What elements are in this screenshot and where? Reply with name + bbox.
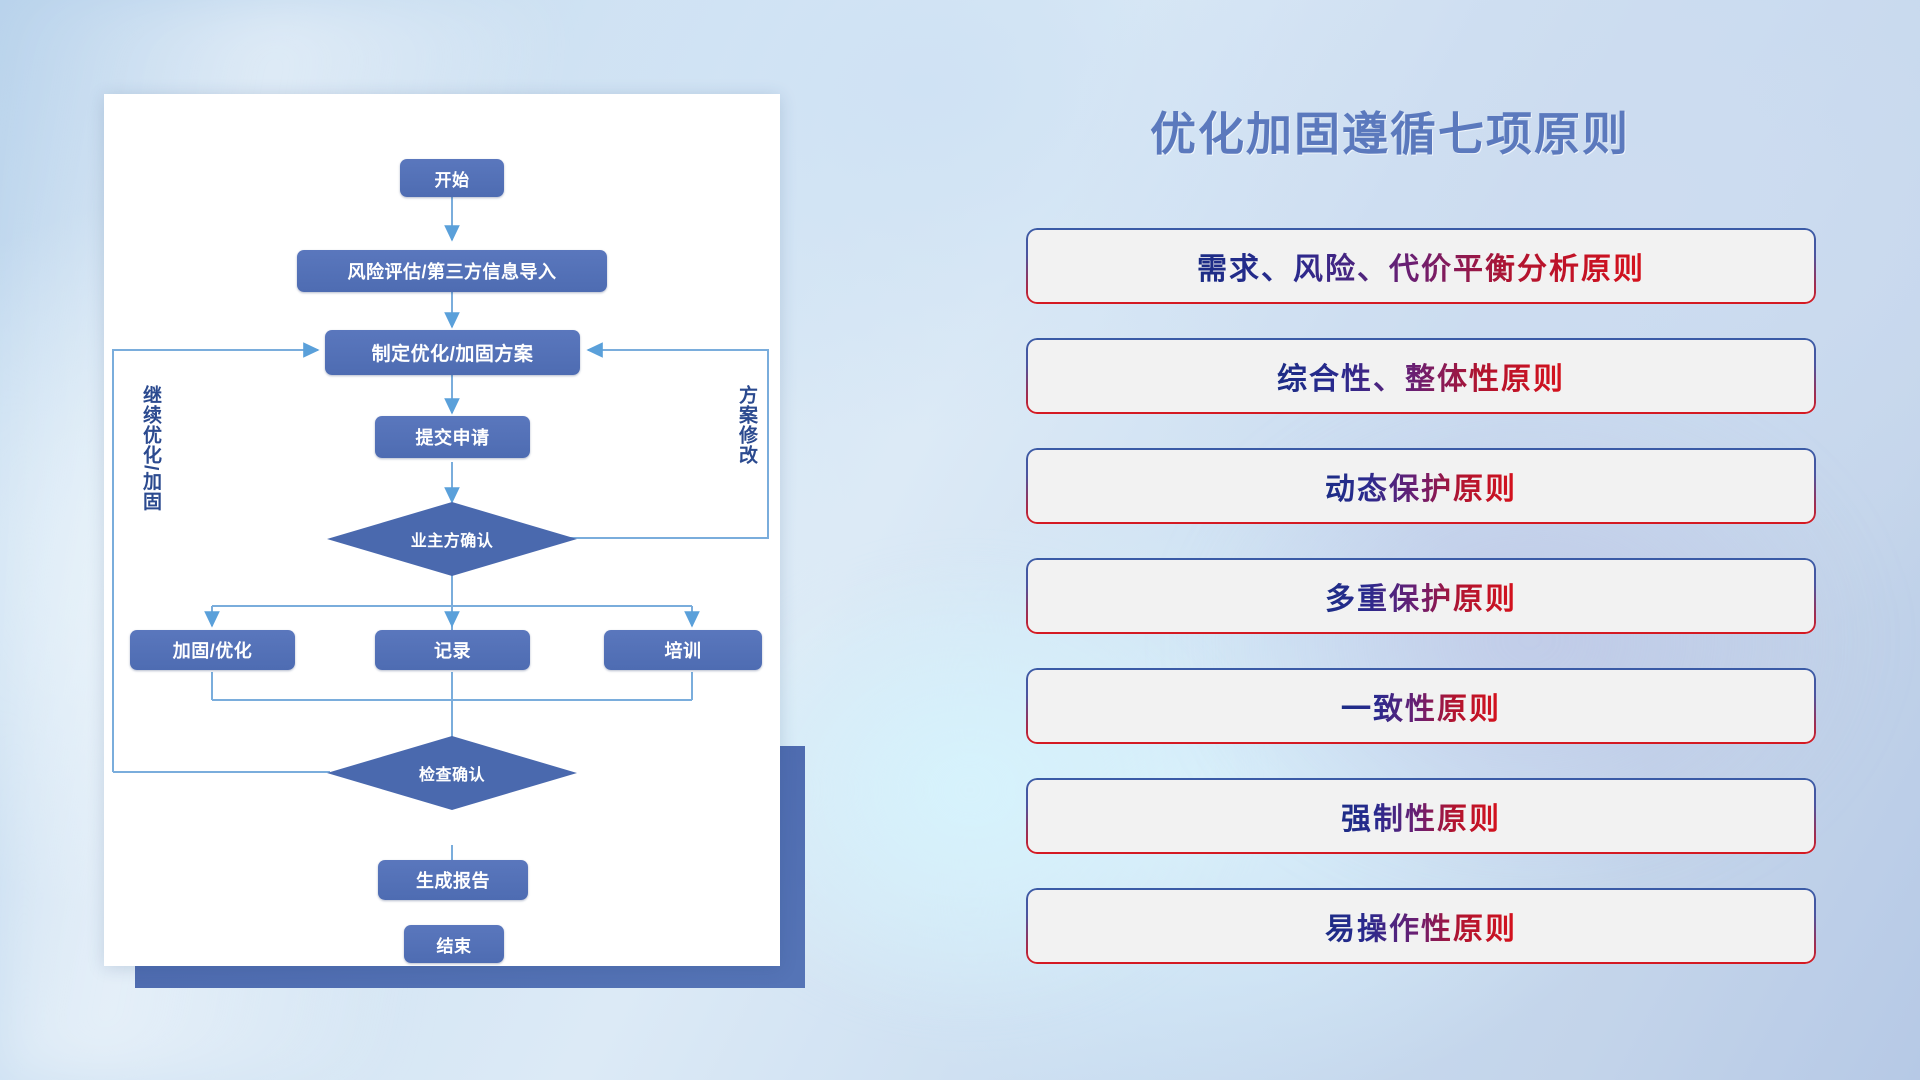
flow-node-label: 业主方确认 [411, 527, 494, 551]
principle-item-6[interactable]: 强制性原则 [1026, 778, 1816, 854]
flow-node-make-plan: 制定优化/加固方案 [325, 330, 580, 375]
flow-node-end: 结束 [404, 925, 504, 963]
principle-label: 强制性原则 [1341, 794, 1501, 838]
flow-node-training: 培训 [604, 630, 762, 670]
principle-item-1[interactable]: 需求、风险、代价平衡分析原则 [1026, 228, 1816, 304]
edge-label-continue-optimize: 继续优化/加固 [140, 385, 160, 511]
flow-node-label: 检查确认 [419, 761, 485, 785]
principle-item-3[interactable]: 动态保护原则 [1026, 448, 1816, 524]
principle-label: 动态保护原则 [1325, 464, 1517, 508]
flow-node-label: 培训 [665, 637, 702, 663]
principle-item-4[interactable]: 多重保护原则 [1026, 558, 1816, 634]
flow-node-label: 风险评估/第三方信息导入 [348, 258, 557, 284]
principle-item-2[interactable]: 综合性、整体性原则 [1026, 338, 1816, 414]
principle-label: 一致性原则 [1341, 684, 1501, 728]
flow-node-label: 制定优化/加固方案 [372, 339, 534, 366]
principle-label: 综合性、整体性原则 [1277, 354, 1565, 398]
principle-label: 多重保护原则 [1325, 574, 1517, 618]
principle-item-5[interactable]: 一致性原则 [1026, 668, 1816, 744]
flow-node-generate-report: 生成报告 [378, 860, 528, 900]
flow-node-label: 结束 [437, 932, 472, 957]
principle-list: 需求、风险、代价平衡分析原则 综合性、整体性原则 动态保护原则 多重保护原则 一… [1026, 228, 1816, 998]
principle-item-7[interactable]: 易操作性原则 [1026, 888, 1816, 964]
flow-node-label: 加固/优化 [173, 637, 253, 663]
flow-node-label: 记录 [434, 637, 471, 663]
page-title: 优化加固遵循七项原则 [860, 98, 1920, 164]
flow-node-submit-application: 提交申请 [375, 416, 530, 458]
principle-label: 需求、风险、代价平衡分析原则 [1197, 244, 1645, 288]
flow-node-label: 提交申请 [416, 424, 490, 450]
flow-node-label: 生成报告 [416, 867, 490, 893]
flowchart-panel: 开始 风险评估/第三方信息导入 制定优化/加固方案 提交申请 业主方确认 加固/… [0, 0, 860, 1080]
flow-node-start: 开始 [400, 159, 504, 197]
flow-node-label: 开始 [435, 166, 470, 191]
flow-node-record: 记录 [375, 630, 530, 670]
principle-label: 易操作性原则 [1325, 904, 1517, 948]
principles-panel: 优化加固遵循七项原则 需求、风险、代价平衡分析原则 综合性、整体性原则 动态保护… [860, 0, 1920, 1080]
flow-node-risk-assessment: 风险评估/第三方信息导入 [297, 250, 607, 292]
flow-node-owner-confirm: 业主方确认 [327, 502, 577, 576]
edge-label-plan-revision: 方案修改 [736, 385, 756, 465]
flow-node-reinforce-optimize: 加固/优化 [130, 630, 295, 670]
flow-node-check-confirm: 检查确认 [327, 736, 577, 810]
